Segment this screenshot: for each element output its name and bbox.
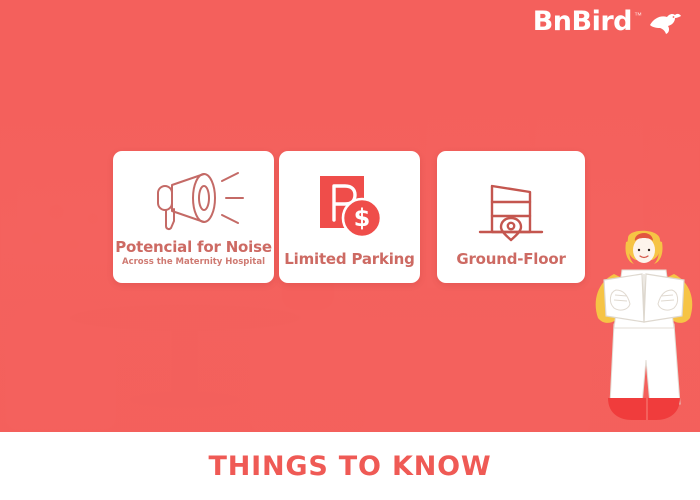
card-subtitle: Across the Maternity Hospital bbox=[115, 257, 272, 267]
info-card-ground-floor[interactable]: Ground-Floor bbox=[437, 151, 585, 283]
info-card-list: Potencial for Noise Across the Maternity… bbox=[0, 0, 700, 432]
card-text-block: Ground-Floor bbox=[456, 251, 565, 284]
info-card-potencial-for-noise[interactable]: Potencial for Noise Across the Maternity… bbox=[113, 151, 274, 283]
card-title: Limited Parking bbox=[284, 251, 414, 268]
brand-name: BnBird bbox=[533, 8, 632, 35]
card-text-block: Potencial for Noise Across the Maternity… bbox=[115, 239, 272, 284]
building-location-pin-icon bbox=[437, 165, 585, 251]
svg-text:$: $ bbox=[353, 204, 370, 232]
brand-logo[interactable]: BnBird ™ bbox=[533, 8, 682, 41]
trademark-symbol: ™ bbox=[634, 11, 642, 20]
slide-canvas: BnBird ™ bbox=[0, 0, 700, 500]
bird-icon bbox=[648, 12, 682, 41]
footer-band: THINGS TO KNOW bbox=[0, 432, 700, 500]
card-title: Potencial for Noise bbox=[115, 239, 272, 256]
card-text-block: Limited Parking bbox=[284, 251, 414, 284]
card-title: Ground-Floor bbox=[456, 251, 565, 268]
megaphone-icon bbox=[113, 165, 274, 239]
footer-title: THINGS TO KNOW bbox=[209, 451, 492, 482]
parking-dollar-icon: $ bbox=[279, 165, 420, 251]
info-card-limited-parking[interactable]: $ Limited Parking bbox=[279, 151, 420, 283]
